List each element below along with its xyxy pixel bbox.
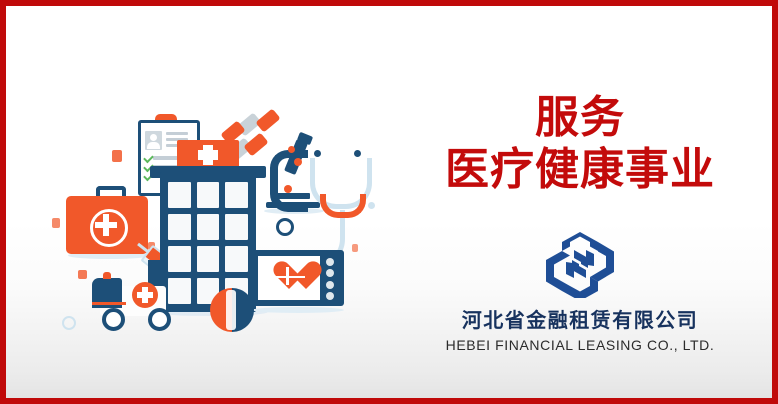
clipboard-text-line — [166, 132, 188, 135]
microscope-base-icon — [266, 202, 320, 208]
ambulance-siren-light-icon — [103, 272, 111, 279]
monitor-control-dot — [326, 258, 334, 266]
heart-monitor-controls — [326, 258, 336, 300]
monitor-control-dot — [326, 269, 334, 277]
brand-block: 河北省金融租赁有限公司 HEBEI FINANCIAL LEASING CO.,… — [394, 230, 766, 353]
hospital-window — [168, 214, 191, 240]
bandage-icon — [243, 132, 268, 156]
stethoscope-eartip-icon — [314, 150, 321, 157]
confetti-dot-icon — [368, 202, 375, 209]
hospital-window — [168, 182, 191, 208]
hospital-window — [225, 246, 248, 272]
confetti-dot-icon — [352, 244, 358, 252]
microscope-knob-icon — [288, 146, 295, 153]
microscope-knob-icon — [284, 185, 292, 193]
medical-healthcare-illustration — [52, 110, 392, 340]
stethoscope-chestpiece-icon — [320, 194, 366, 218]
heart-monitor-shadow — [252, 307, 344, 313]
monitor-control-dot — [326, 281, 334, 289]
hospital-window — [197, 246, 220, 272]
headline: 服务 医疗健康事业 — [394, 92, 766, 196]
headline-line-1: 服务 — [394, 92, 766, 144]
capsule-highlight — [226, 290, 236, 330]
hospital-window — [225, 182, 248, 208]
confetti-dot-icon — [112, 150, 122, 162]
stethoscope-disc-icon — [276, 218, 294, 236]
ecg-line-icon — [286, 267, 289, 285]
microscope-stage-icon — [274, 193, 310, 199]
confetti-dot-icon — [78, 270, 87, 279]
hospital-window — [197, 214, 220, 240]
hospital-window — [197, 182, 220, 208]
clipboard-patient-photo-icon — [145, 131, 162, 150]
company-logo — [544, 230, 616, 298]
heart-icon — [272, 262, 306, 294]
company-name-en: HEBEI FINANCIAL LEASING CO., LTD. — [394, 337, 766, 353]
stethoscope-eartip-icon — [354, 150, 361, 157]
confetti-ring-icon — [62, 316, 76, 330]
headline-line-2: 医疗健康事业 — [394, 144, 766, 196]
ecg-line-icon — [274, 276, 305, 278]
ambulance-wheel-icon — [102, 308, 125, 331]
ambulance-stripe — [92, 302, 126, 305]
bandage-icon — [255, 108, 280, 132]
confetti-dot-icon — [52, 218, 60, 228]
first-aid-kit-circle-icon — [90, 209, 128, 247]
microscope-knob-icon — [294, 158, 302, 166]
ambulance-wheel-icon — [148, 308, 171, 331]
pill-capsule-icon — [210, 288, 254, 332]
hexagon-logo-icon — [544, 230, 616, 298]
company-name-cn: 河北省金融租赁有限公司 — [394, 304, 766, 333]
hospital-window — [168, 246, 191, 272]
poster-frame: 服务 医疗健康事业 — [0, 0, 778, 404]
hospital-window — [225, 214, 248, 240]
monitor-control-dot — [326, 292, 334, 300]
first-aid-kit-cross-icon — [95, 222, 117, 228]
ambulance-cross-icon — [137, 292, 153, 298]
hospital-windows — [168, 182, 248, 304]
hospital-window — [168, 278, 191, 304]
